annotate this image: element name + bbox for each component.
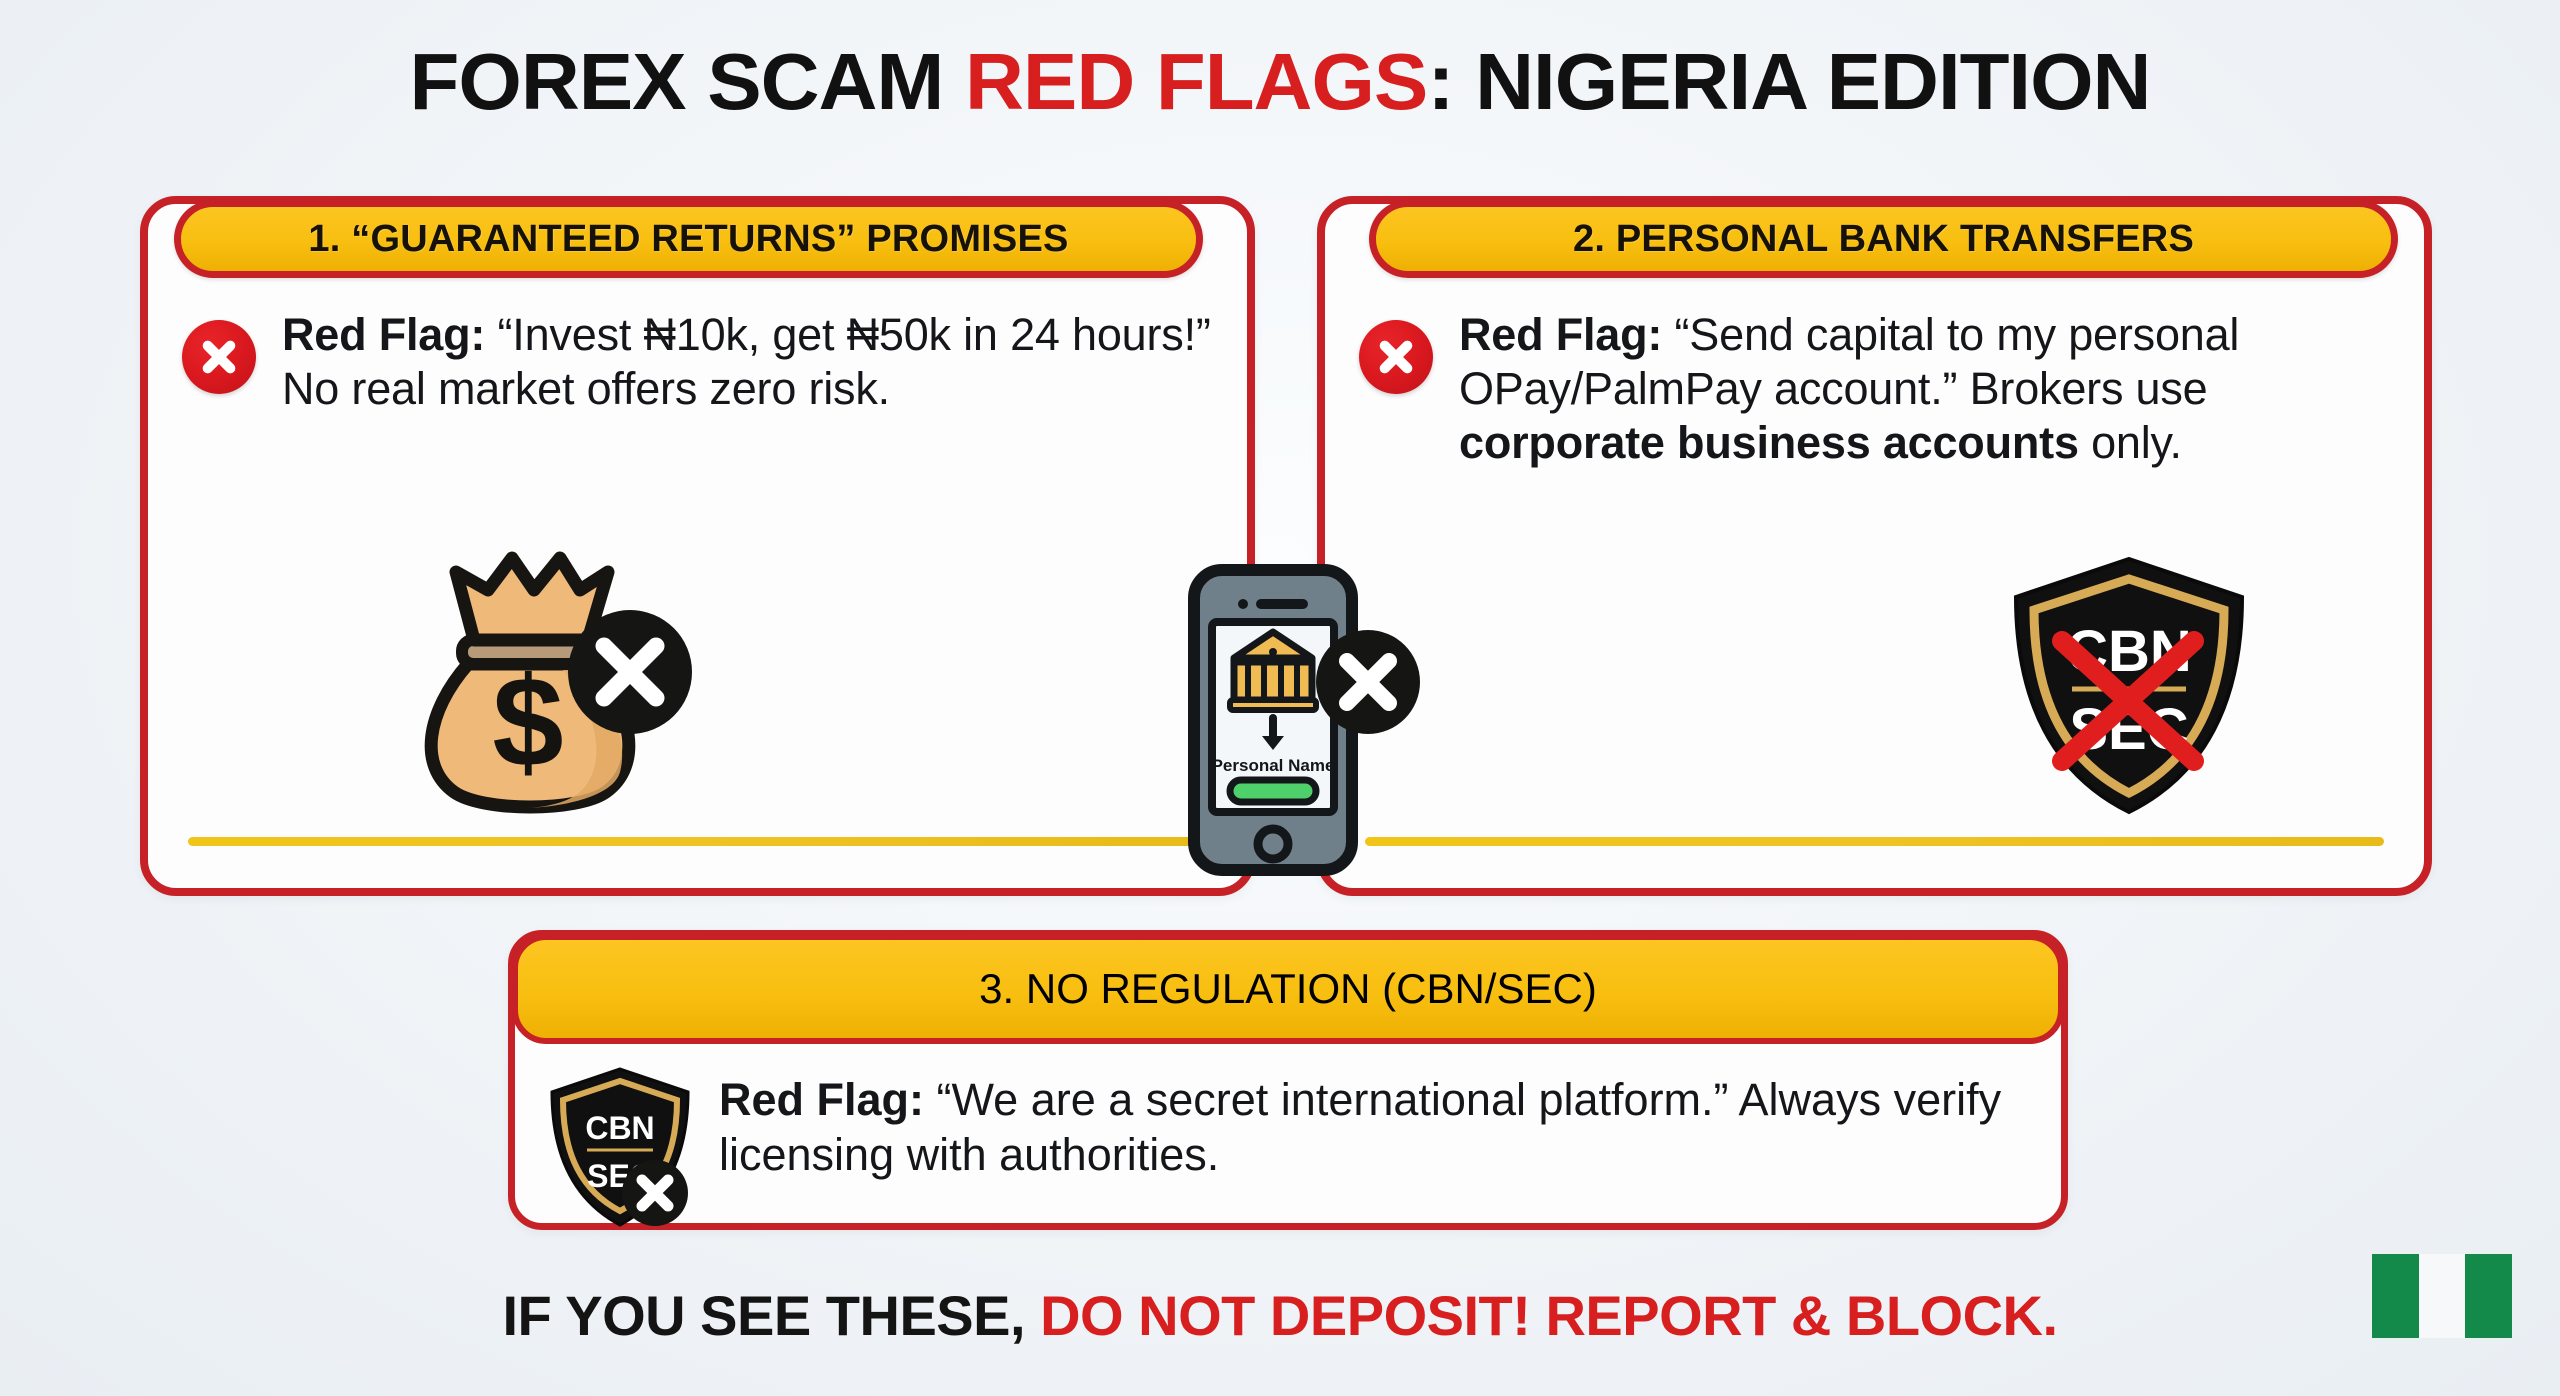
card-2-label: Red Flag: — [1459, 309, 1662, 360]
card-1-header-label: 1. “GUARANTEED RETURNS” PROMISES — [308, 218, 1068, 261]
card-2-header-label: 2. PERSONAL BANK TRANSFERS — [1573, 218, 2194, 261]
card-1-label: Red Flag: — [282, 309, 485, 360]
card-guaranteed-returns: 1. “GUARANTEED RETURNS” PROMISES Red Fla… — [140, 196, 1255, 896]
money-bag-dollar-symbol: $ — [492, 651, 563, 794]
red-x-circle-icon — [1359, 320, 1433, 394]
card-3-text: Red Flag: “We are a secret international… — [719, 1065, 2031, 1183]
card-3-body: CBN SEC Red Flag: “We are a secret inter… — [545, 1065, 2031, 1240]
footer-part-1: IF YOU SEE THESE, — [502, 1284, 1040, 1347]
card-2-body-bold: corporate business accounts — [1459, 417, 2079, 468]
title-part-2: : NIGERIA EDITION — [1427, 37, 2150, 126]
card-personal-bank-transfers: 2. PERSONAL BANK TRANSFERS Red Flag: “Se… — [1317, 196, 2432, 896]
phone-screen-recipient-label: Personal Name — [1212, 756, 1335, 775]
card-2-accent-rule — [1365, 837, 2384, 846]
card-1-text: Red Flag: “Invest ₦10k, get ₦50k in 24 h… — [282, 308, 1213, 416]
infographic-page: FOREX SCAM RED FLAGS: NIGERIA EDITION 1.… — [0, 0, 2560, 1396]
cbn-sec-shield-crossed-icon: CBN SEC — [545, 1065, 695, 1240]
cbn-sec-shield-crossed-icon: CBN SEC — [2004, 553, 2254, 818]
footer-warning: IF YOU SEE THESE, DO NOT DEPOSIT! REPORT… — [0, 1283, 2560, 1348]
card-2-body: Red Flag: “Send capital to my personal O… — [1359, 308, 2390, 470]
flag-stripe-green-right — [2465, 1254, 2512, 1338]
flag-stripe-white — [2419, 1254, 2466, 1338]
card-1-accent-rule — [188, 837, 1207, 846]
page-title: FOREX SCAM RED FLAGS: NIGERIA EDITION — [0, 42, 2560, 122]
card-3-header: 3. NO REGULATION (CBN/SEC) — [512, 934, 2064, 1044]
nigeria-flag — [2372, 1254, 2512, 1338]
card-3-header-label: 3. NO REGULATION (CBN/SEC) — [979, 965, 1597, 1013]
red-x-circle-icon — [182, 320, 256, 394]
money-bag-crossed-icon: $ — [408, 544, 708, 814]
shield-cbn-label: CBN — [585, 1110, 654, 1146]
personal-bank-transfer-phone-icon: Personal Name — [1180, 560, 1430, 880]
card-1-header: 1. “GUARANTEED RETURNS” PROMISES — [174, 200, 1203, 278]
card-2-body-post: only. — [2079, 417, 2182, 468]
title-accent: RED FLAGS — [965, 37, 1427, 126]
card-2-text: Red Flag: “Send capital to my personal O… — [1459, 308, 2390, 470]
card-2-header: 2. PERSONAL BANK TRANSFERS — [1369, 200, 2398, 278]
title-part-1: FOREX SCAM — [410, 37, 965, 126]
flag-stripe-green-left — [2372, 1254, 2419, 1338]
card-no-regulation: 3. NO REGULATION (CBN/SEC) CBN SEC Red — [508, 930, 2068, 1230]
card-3-label: Red Flag: — [719, 1074, 924, 1125]
footer-accent: DO NOT DEPOSIT! REPORT & BLOCK. — [1040, 1284, 2057, 1347]
card-1-body: Red Flag: “Invest ₦10k, get ₦50k in 24 h… — [182, 308, 1213, 416]
